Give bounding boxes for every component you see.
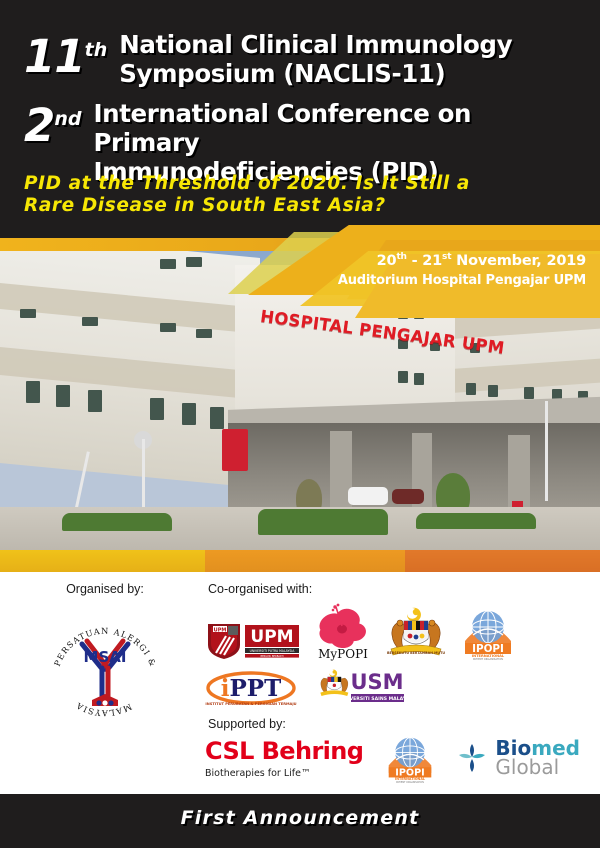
strip-segment-deep-orange — [405, 550, 600, 572]
tagline-line1: PID at the Threshold of 2020. Is It Stil… — [24, 173, 504, 195]
window — [56, 385, 70, 407]
organised-by-block: Organised by: PERSATUAN ALERGI & IMUNOLO… — [10, 582, 200, 720]
event-1-name: National Clinical Immunology Symposium (… — [107, 28, 512, 88]
event-1-ordinal: 11th — [24, 28, 107, 79]
date-day-end: 21 — [422, 253, 442, 269]
svg-text:iPPT: iPPT — [221, 675, 281, 702]
supporter-logos-row: CSL Behring Biotherapies for Life™ — [205, 732, 580, 784]
svg-text:USM: USM — [350, 670, 403, 694]
tagline-line2: Rare Disease in South East Asia? — [24, 195, 504, 217]
event-1-ordinal-suffix: th — [85, 39, 108, 61]
event-venue: Auditorium Hospital Pengajar UPM — [336, 273, 586, 288]
svg-text:UNIVERSITI SAINS MALAYSIA: UNIVERSITI SAINS MALAYSIA — [340, 696, 407, 702]
window — [210, 407, 224, 429]
date-suffix-end: st — [442, 252, 451, 262]
organised-by-label: Organised by: — [10, 582, 200, 596]
directional-sign — [222, 429, 248, 471]
window — [26, 381, 40, 403]
window — [186, 257, 202, 267]
event-title-1: 11th National Clinical Immunology Sympos… — [24, 28, 580, 88]
event-1-name-line2: Symposium (NACLIS-11) — [119, 59, 512, 88]
ipopi-globe-icon: IPOPI INTERNATIONAL PATIENT ORGANISATION — [385, 732, 435, 784]
upm-logo: UPM UPM UNIVERSITI PUTRA MALAYSIA BERILM… — [205, 621, 301, 661]
svg-text:PATIENT ORGANISATION: PATIENT ORGANISATION — [473, 657, 503, 661]
csl-behring-logo: CSL Behring Biotherapies for Life™ — [205, 738, 363, 779]
window — [182, 403, 196, 425]
hedge — [416, 513, 536, 529]
poster-header: 11th National Clinical Immunology Sympos… — [0, 0, 600, 238]
co-organiser-logos-row-1: UPM UPM UNIVERSITI PUTRA MALAYSIA BERILM… — [205, 602, 515, 661]
window — [466, 383, 476, 395]
poster-tagline: PID at the Threshold of 2020. Is It Stil… — [24, 173, 504, 217]
date-day-start: 20 — [377, 253, 397, 269]
window — [88, 390, 102, 412]
event-2-ordinal-suffix: nd — [54, 108, 81, 130]
event-2-ordinal-number: 2 — [24, 99, 54, 152]
strip-segment-yellow — [0, 550, 205, 572]
msai-logo: PERSATUAN ALERGI & IMUNOLOGI MALAYSIA — [40, 610, 170, 720]
svg-text:BERILMU BERBAKTI: BERILMU BERBAKTI — [260, 655, 283, 658]
hedge — [258, 509, 388, 535]
svg-text:UPM: UPM — [250, 627, 293, 647]
hibiscus-flower-icon — [315, 602, 371, 648]
jata-negara-logo: BERSEKUTU BERTAMBAH MUTU — [385, 605, 447, 661]
svg-text:UNIVERSITI PUTRA MALAYSIA: UNIVERSITI PUTRA MALAYSIA — [250, 649, 296, 653]
supported-by-label: Supported by: — [208, 717, 286, 731]
ippt-icon: iPPT INSTITUT PERUBATAN & PERGIGIAN TERM… — [205, 669, 297, 709]
window — [160, 323, 176, 332]
title-block: 11th National Clinical Immunology Sympos… — [24, 28, 580, 186]
window — [82, 317, 98, 326]
malaysia-coat-of-arms-icon: BERSEKUTU BERTAMBAH MUTU — [385, 605, 447, 661]
poster-footer: First Announcement — [0, 794, 600, 848]
window — [524, 387, 534, 399]
date-month-year: November, 2019 — [451, 253, 586, 269]
lamp-pole — [545, 401, 548, 501]
window — [150, 398, 164, 420]
usm-logo: USM UNIVERSITI SAINS MALAYSIA — [315, 667, 407, 709]
event-date: 20th - 21st November, 2019 — [336, 252, 586, 269]
biomed-name-part3: Global — [495, 758, 580, 777]
event-1-ordinal-number: 11 — [24, 30, 85, 83]
svg-text:BERSEKUTU BERTAMBAH MUTU: BERSEKUTU BERTAMBAH MUTU — [387, 651, 445, 655]
window — [488, 385, 498, 397]
ipopi-supporter-logo: IPOPI INTERNATIONAL PATIENT ORGANISATION — [385, 732, 435, 784]
window — [196, 329, 212, 338]
mypopi-logo: MyPOPI — [315, 602, 371, 661]
event-details: 20th - 21st November, 2019 Auditorium Ho… — [336, 252, 586, 288]
strip-segment-orange — [205, 550, 405, 572]
co-organised-label: Co-organised with: — [208, 582, 312, 596]
event-1-name-line1: National Clinical Immunology — [119, 30, 512, 59]
window — [20, 309, 36, 318]
csl-behring-name: CSL Behring — [205, 738, 363, 764]
window — [160, 259, 176, 269]
svg-text:PATIENT ORGANISATION: PATIENT ORGANISATION — [397, 781, 425, 784]
hedge — [62, 513, 172, 531]
event-2-ordinal: 2nd — [24, 97, 81, 148]
svg-text:INSTITUT PERUBATAN & PERGIGIAN: INSTITUT PERUBATAN & PERGIGIAN TERMAJU — [205, 702, 296, 706]
biomed-global-logo: Biomed Global — [457, 739, 580, 777]
biomed-pinwheel-icon — [457, 741, 487, 775]
date-suffix-start: th — [396, 252, 406, 262]
co-organiser-logos-row-2: iPPT INSTITUT PERUBATAN & PERGIGIAN TERM… — [205, 667, 407, 709]
usm-icon: USM UNIVERSITI SAINS MALAYSIA — [315, 667, 407, 709]
window — [414, 373, 424, 385]
pillar — [508, 435, 530, 509]
ipopi-logo: IPOPI INTERNATIONAL PATIENT ORGANISATION — [461, 605, 515, 661]
ippt-logo: iPPT INSTITUT PERUBATAN & PERGIGIAN TERM… — [205, 669, 297, 709]
window — [398, 371, 408, 383]
event-2-name-line1: International Conference on Primary — [93, 99, 580, 157]
date-separator: - — [407, 253, 423, 269]
car — [392, 489, 424, 504]
sponsors-section: Organised by: PERSATUAN ALERGI & IMUNOLO… — [0, 572, 600, 794]
ipopi-globe-icon: IPOPI INTERNATIONAL PATIENT ORGANISATION — [461, 605, 515, 661]
mypopi-label: MyPOPI — [318, 647, 368, 661]
upm-shield-icon: UPM UPM UNIVERSITI PUTRA MALAYSIA BERILM… — [205, 621, 301, 661]
svg-text:UPM: UPM — [214, 627, 227, 633]
svg-text:MSAI: MSAI — [84, 648, 127, 666]
conference-poster: 11th National Clinical Immunology Sympos… — [0, 0, 600, 848]
msai-antibody-icon: PERSATUAN ALERGI & IMUNOLOGI MALAYSIA — [40, 610, 170, 720]
bottom-color-strip — [0, 550, 600, 572]
csl-behring-tagline: Biotherapies for Life™ — [205, 768, 363, 779]
announcement-label: First Announcement — [0, 807, 600, 829]
car — [348, 487, 388, 505]
